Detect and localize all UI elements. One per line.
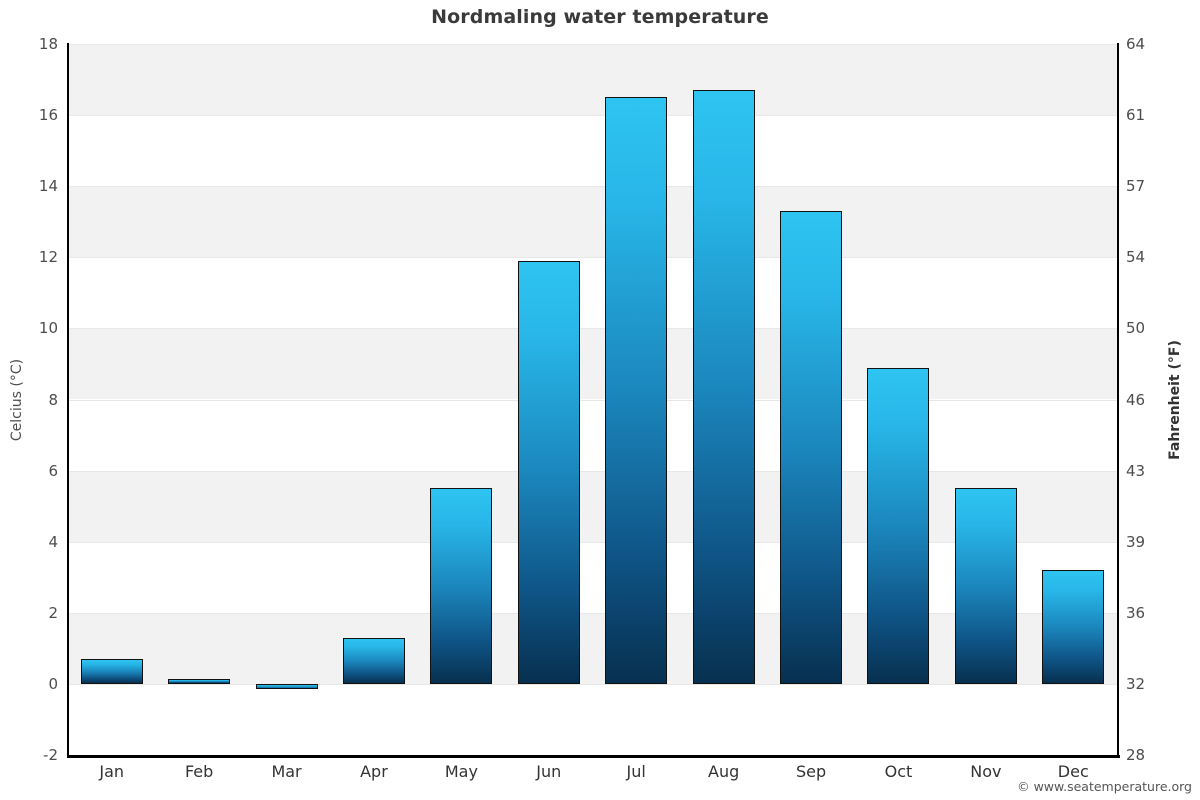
background-band [68, 44, 1117, 115]
y-tick-right-label: 36 [1126, 604, 1145, 622]
bar-sep [780, 211, 842, 684]
bar-mar [256, 684, 318, 689]
y-tick-left-label: 14 [39, 177, 58, 195]
x-tick-label-jul: Jul [627, 762, 646, 781]
gridline [68, 684, 1117, 685]
gridline [68, 257, 1117, 258]
y-tick-left-label: 4 [48, 533, 58, 551]
copyright-credit: © www.seatemperature.org [1017, 779, 1192, 794]
y-tick-right-label: 57 [1126, 177, 1145, 195]
y-tick-left-label: 8 [48, 391, 58, 409]
y-tick-right-label: 54 [1126, 248, 1145, 266]
bar-aug [693, 90, 755, 684]
background-band [68, 186, 1117, 257]
water-temperature-chart: Nordmaling water temperature -2024681012… [0, 0, 1200, 800]
x-tick-label-jan: Jan [99, 762, 124, 781]
bar-nov [955, 488, 1017, 684]
y-axis-right-title: Fahrenheit (°F) [1167, 220, 1183, 580]
y-tick-right-label: 32 [1126, 675, 1145, 693]
gridline [68, 186, 1117, 187]
bar-jun [518, 261, 580, 684]
y-tick-left-label: 16 [39, 106, 58, 124]
gridline [68, 471, 1117, 472]
x-tick-label-oct: Oct [885, 762, 913, 781]
y-tick-right-label: 39 [1126, 533, 1145, 551]
bar-oct [867, 368, 929, 684]
gridline [68, 115, 1117, 116]
x-tick-label-nov: Nov [970, 762, 1001, 781]
y-tick-left-label: 0 [48, 675, 58, 693]
y-tick-left-label: 18 [39, 35, 58, 53]
y-tick-right-label: 28 [1126, 746, 1145, 764]
y-tick-right-label: 43 [1126, 462, 1145, 480]
y-axis-left-line [67, 43, 69, 757]
bar-jan [81, 659, 143, 684]
bar-apr [343, 638, 405, 684]
y-tick-left-label: 2 [48, 604, 58, 622]
y-tick-right-label: 61 [1126, 106, 1145, 124]
x-tick-label-feb: Feb [185, 762, 213, 781]
bar-dec [1042, 570, 1104, 684]
plot-area [68, 44, 1117, 755]
bar-jul [605, 97, 667, 684]
y-tick-right-label: 50 [1126, 319, 1145, 337]
x-tick-label-mar: Mar [271, 762, 301, 781]
x-tick-label-aug: Aug [708, 762, 739, 781]
background-band [68, 328, 1117, 399]
y-tick-right-label: 64 [1126, 35, 1145, 53]
x-tick-label-jun: Jun [536, 762, 561, 781]
y-axis-right-line [1117, 43, 1119, 757]
gridline [68, 44, 1117, 45]
y-tick-left-label: -2 [43, 746, 58, 764]
bar-feb [168, 679, 230, 684]
x-tick-label-may: May [445, 762, 478, 781]
gridline [68, 328, 1117, 329]
chart-title: Nordmaling water temperature [0, 6, 1200, 28]
y-tick-left-label: 6 [48, 462, 58, 480]
x-tick-label-sep: Sep [796, 762, 826, 781]
x-axis-line [67, 755, 1120, 758]
y-tick-left-label: 10 [39, 319, 58, 337]
gridline [68, 400, 1117, 401]
x-tick-label-apr: Apr [360, 762, 388, 781]
bar-may [430, 488, 492, 684]
y-tick-left-label: 12 [39, 248, 58, 266]
y-axis-left-title: Celcius (°C) [9, 220, 25, 580]
y-tick-right-label: 46 [1126, 391, 1145, 409]
